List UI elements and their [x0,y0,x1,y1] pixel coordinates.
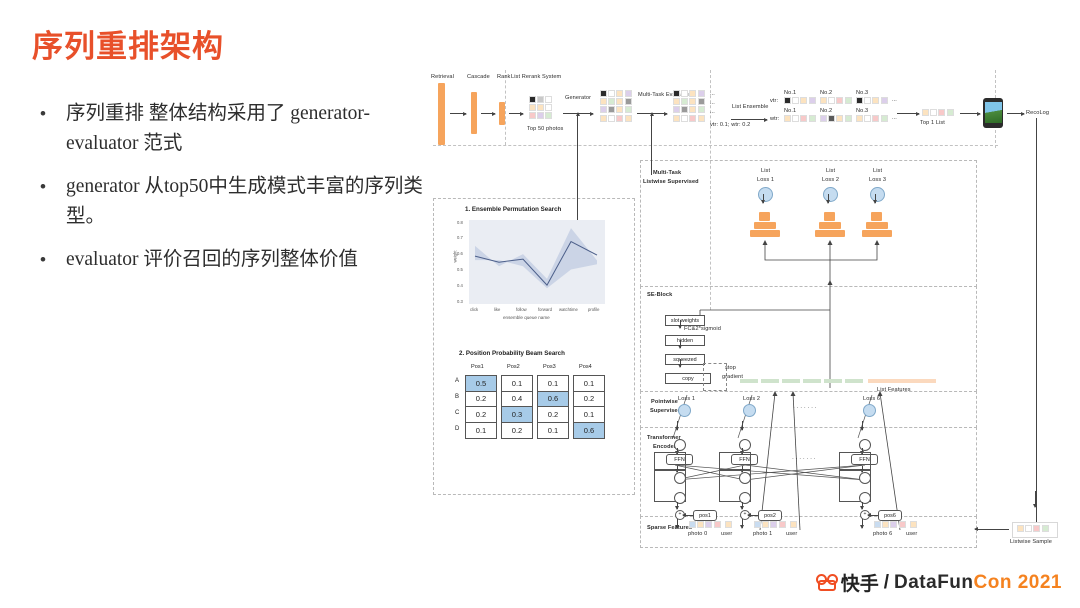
grid-cell [872,115,879,122]
table-cell: 0.1 [502,376,532,392]
point-loss-node-2 [743,404,756,417]
grid-cell [1017,525,1024,532]
ensemble-list [820,97,852,104]
grid-row [673,98,705,105]
grid-cell [681,90,688,97]
table-cell: 0.1 [574,407,604,423]
grid-cell [698,90,705,97]
grid-cell [947,109,954,116]
generator-label: Generator [565,95,591,101]
sparse-photo-label: photo 1 [753,531,772,537]
list-loss-label-line2: Loss 2 [822,177,839,183]
grid-cell [625,90,632,97]
grid-cell [689,106,696,113]
list-features-label: List Features [877,387,911,393]
grid-cell [689,98,696,105]
table-cell: 0.2 [502,423,532,439]
funnel-stage-cascade [471,92,477,134]
se-fc-label: FC&2*sigmoid [684,326,721,332]
evaluator-scored-lists [673,90,705,122]
ellipsis-marker: ... [892,115,897,121]
grid-cell [625,106,632,113]
grid-row [673,90,705,97]
mobile-device-icon [983,98,1003,128]
rank-label: No.3 [856,90,868,96]
position-probability-table-card: 2. Position Probability Beam Search Pos1… [447,350,622,485]
kuaishou-logo-icon [816,574,838,592]
arrow-into-listwise-sample [1035,491,1036,507]
point-loss-node-1 [678,404,691,417]
grid-cell [698,98,705,105]
chart-ytick: 0.7 [457,235,463,240]
grid-cell [856,115,863,122]
grid-cell [616,115,623,122]
listwise-sample-blocks [1017,525,1049,532]
rank-label: No.2 [820,108,832,114]
grid-cell [828,97,835,104]
chart-xtick: click [470,307,478,312]
table-cell: 0.2 [538,407,568,423]
grid-cell [608,106,615,113]
grid-cell [899,521,906,528]
feature-block-green [761,379,779,383]
list-loss-node [870,187,885,202]
ellipsis-marker: ... [710,100,715,106]
table-column-pos1: 0.5 0.2 0.2 0.1 [465,375,497,439]
addnorm-node [739,439,751,451]
feature-block-green [803,379,821,383]
grid-cell [600,106,607,113]
grid-cell [762,521,769,528]
transformer-title-line2: Encoder [653,444,676,450]
ensemble-list [820,115,852,122]
list-loss-label-line1: List [826,168,835,174]
point-loss-label-6: Loss 6 [863,396,880,402]
rank-label: No.3 [856,108,868,114]
grid-cell [792,97,799,104]
grid-cell [809,97,816,104]
grid-row [673,106,705,113]
pos-box-1: pos1 [693,510,717,521]
residual-wrap [719,452,751,470]
grid-cell [754,521,761,528]
point-loss-node-6 [863,404,876,417]
top50-photos-grid [529,96,552,119]
point-loss-ellipsis: · · · · · · · [793,405,817,411]
table-cell: 0.2 [466,407,496,423]
grid-cell [681,98,688,105]
grid-cell [828,115,835,122]
grid-cell [616,98,623,105]
sparse-user-label: user [721,531,732,537]
cone-layer-bottom [750,230,780,237]
ensemble-list [856,97,888,104]
grid-cell [689,90,696,97]
table-cell: 0.3 [502,407,532,423]
grid-cell [845,115,852,122]
chart-xtick: like [494,307,500,312]
bullet-marker: • [34,172,66,202]
chart-xtick: follow [516,307,527,312]
grid-cell [845,97,852,104]
grid-cell [872,97,879,104]
multitask-listwise-title-line2: Listwise Supervised [643,179,699,185]
generator-output-lists [600,90,632,122]
arrow-to-list-ensemble [731,119,767,120]
grid-cell [864,115,871,122]
column-header-pos4: Pos4 [579,364,592,370]
se-node-hidden: hidden [665,335,705,346]
grid-cell [529,104,536,111]
list-loss-label-line2: Loss 3 [869,177,886,183]
column-header-pos2: Pos2 [507,364,520,370]
architecture-diagram: Retrieval Cascade Rank List Rerank Syste… [425,60,1080,560]
arrow-embed-to-attention [742,502,743,509]
datafuncon-year-label: Con 2021 [974,572,1062,594]
page-title: 序列重排架构 [32,21,224,66]
list-item: • generator 从top50中生成模式丰富的序列类型。 [34,172,424,232]
grid-cell [625,98,632,105]
line-recolog-to-sample [1036,118,1037,523]
feature-block-green [782,379,800,383]
sparse-photo-label: photo 6 [873,531,892,537]
grid-cell [792,115,799,122]
chart-xtick: forward [538,307,552,312]
grid-cell [809,115,816,122]
bullet-marker: • [34,99,66,129]
grid-cell [938,109,945,116]
grid-cell [881,97,888,104]
divider-dashed-vertical [505,70,506,145]
arrow-pos-to-sum [748,515,758,516]
arrow-phone-to-recolog [1007,113,1024,114]
arrow-embed-to-attention [677,502,678,509]
grid-cell [856,97,863,104]
arrow-to-top1-list [897,113,919,114]
grid-cell [922,109,929,116]
chart-ytick: 0.5 [457,267,463,272]
arrow-to-phone [960,113,980,114]
grid-cell [800,115,807,122]
sparse-photo-blocks [754,521,786,528]
row-header-b: B [455,394,459,400]
list-loss-label-line1: List [873,168,882,174]
arrow-pos-to-sum [683,515,693,516]
grid-cell [705,521,712,528]
feature-block-green [740,379,758,383]
grid-cell [545,112,552,119]
table-column-pos3: 0.1 0.6 0.2 0.1 [537,375,569,439]
arrow-tower-to-loss [875,194,876,203]
bullet-text: evaluator 评价召回的序列整体价值 [66,245,358,275]
grid-cell [820,97,827,104]
list-loss-node [823,187,838,202]
chart-ytick: 0.6 [457,251,463,256]
ellipsis-marker: ... [710,109,715,115]
feature-block-orange [868,379,936,383]
ensemble-list [856,115,888,122]
arrow-sparse-to-sum [862,519,863,528]
table-cell: 0.1 [538,376,568,392]
table-cell: 0.1 [466,423,496,439]
arrow-squeezed-to-hidden [680,340,681,348]
grid-cell [529,112,536,119]
stop-gradient-line1: stop [725,365,736,371]
grid-cell [600,90,607,97]
grid-cell [608,115,615,122]
table-title: 2. Position Probability Beam Search [459,350,565,357]
arrow-to-pointwise-loss [742,421,743,430]
pointwise-title-line1: Pointwise [651,399,678,405]
grid-cell [836,97,843,104]
ensemble-list [784,97,816,104]
kuaishou-label: 快手 [841,569,879,596]
grid-cell [537,112,544,119]
attention-node [859,492,871,504]
chart-title: 1. Ensemble Permutation Search [465,206,561,213]
grid-cell [537,104,544,111]
grid-cell [881,115,888,122]
table-cell: 0.2 [466,392,496,408]
table-column-pos4: 0.1 0.2 0.1 0.6 [573,375,605,439]
residual-wrap [654,452,686,470]
grid-cell [616,106,623,113]
row-header-c: C [455,410,459,416]
list-ensemble-label: List Ensemble [732,104,768,110]
cone-layer-mid [866,222,888,229]
grid-cell [529,96,536,103]
grid-row [600,98,632,105]
sparse-photo-label: photo 0 [688,531,707,537]
ffn-ellipsis: · · · · · · · [792,456,816,462]
arrow-retrieval-to-cascade [450,113,466,114]
arrow-cascade-to-rank [481,113,495,114]
addnorm-node [859,439,871,451]
chart-ytick: 0.8 [457,220,463,225]
list-loss-node [758,187,773,202]
sparse-user-block [910,521,917,528]
grid-cell [673,106,680,113]
grid-cell [681,115,688,122]
cone-layer-bottom [815,230,845,237]
grid-cell [689,115,696,122]
transformer-region [640,427,977,517]
attention-node [739,492,751,504]
grid-cell [779,521,786,528]
phone-screen [985,102,1002,123]
se-node-squeezed: squeezed [665,354,705,365]
se-block-title: SE-Block [647,292,672,298]
cone-layer-mid [819,222,841,229]
arrow-to-pointwise-loss [677,421,678,430]
arrow-hidden-to-slotweights [680,320,681,328]
datafun-label: DataFun [894,572,974,594]
bullet-text: 序列重排 整体结构采用了 generator-evaluator 范式 [66,99,424,159]
column-header-pos1: Pos1 [471,364,484,370]
grid-cell [616,90,623,97]
list-loss-label-line2: Loss 1 [757,177,774,183]
arrow-pos-to-sum [868,515,878,516]
ensemble-list [784,115,816,122]
sparse-features-title: Sparse Features [647,525,692,531]
list-rerank-system-label: List Rerank System [511,74,561,80]
sparse-user-label: user [906,531,917,537]
bullet-marker: • [34,245,66,275]
sparse-user-label: user [786,531,797,537]
funnel-label-cascade: Cascade [467,74,490,80]
sparse-user-block [790,521,797,528]
bullet-text: generator 从top50中生成模式丰富的序列类型。 [66,172,424,232]
table-cell: 0.6 [574,423,604,439]
cone-layer-top [759,212,770,221]
grid-cell [784,115,791,122]
grid-cell [681,106,688,113]
grid-cell [714,521,721,528]
top50-photos-label: Top 50 photos [527,126,563,132]
row-header-d: D [455,426,459,432]
grid-cell [800,97,807,104]
arrow-copy-to-squeezed [680,359,681,367]
cone-layer-top [871,212,882,221]
grid-cell [784,97,791,104]
rank-label: No.1 [784,108,796,114]
top1-list-blocks [922,109,954,116]
chart-xtick: watchtime [559,307,578,312]
row-header-a: A [455,378,459,384]
table-cell: 0.2 [574,392,604,408]
grid-cell [890,521,897,528]
cone-layer-bottom [862,230,892,237]
grid-cell [673,98,680,105]
grid-cell [698,106,705,113]
grid-row [529,96,552,103]
grid-row [600,115,632,122]
pos-box-2: pos2 [758,510,782,521]
grid-cell [689,521,696,528]
metric-label-wtr: wtr: [770,116,779,122]
funnel-stage-rank [499,102,505,125]
arrow-sample-to-sparse [975,529,1009,530]
funnel-label-retrieval: Retrieval [431,74,454,80]
pointwise-title-line2: Supervised [650,408,681,414]
chart-svg [469,220,605,304]
table-cell: 0.5 [466,376,496,392]
grid-row [600,106,632,113]
list-loss-label-line1: List [761,168,770,174]
table-column-pos2: 0.1 0.4 0.3 0.2 [501,375,533,439]
grid-cell [882,521,889,528]
arrow-embed-to-attention [862,502,863,509]
grid-cell [820,115,827,122]
grid-row [529,112,552,119]
feature-block-green [824,379,842,383]
grid-cell [625,115,632,122]
footer-branding: 快手 / DataFun Con 2021 [816,569,1062,596]
logo-face [818,580,836,591]
cone-layer-mid [754,222,776,229]
grid-cell [1042,525,1049,532]
arrow-rank-to-system [509,113,523,114]
column-header-pos3: Pos3 [543,364,556,370]
grid-cell [930,109,937,116]
rank-label: No.1 [784,90,796,96]
grid-cell [698,115,705,122]
chart-xlabel: ensemble queue name [503,315,550,320]
grid-row [600,90,632,97]
sparse-photo-blocks [874,521,906,528]
grid-cell [874,521,881,528]
attention-node [674,492,686,504]
grid-cell [1033,525,1040,532]
chart-confidence-band [475,228,597,288]
pos-box-6: pos6 [878,510,902,521]
table-cell: 0.6 [538,392,568,408]
arrow-tower-to-loss [828,194,829,203]
rank-label: No.2 [820,90,832,96]
grid-row [673,115,705,122]
sparse-photo-blocks [689,521,721,528]
chart-plot-area [469,220,605,304]
multitask-listwise-title-line1: Multi-Task [653,170,681,176]
grid-cell [600,98,607,105]
grid-cell [673,115,680,122]
bullet-list: • 序列重排 整体结构采用了 generator-evaluator 范式 • … [34,99,424,288]
grid-cell [673,90,680,97]
residual-wrap [839,452,871,470]
grid-cell [545,104,552,111]
arrow-evaluator-supervision [651,113,652,175]
point-loss-label-2: Loss 2 [743,396,760,402]
point-loss-label-1: Loss 1 [678,396,695,402]
grid-cell [836,115,843,122]
arrow-sparse-to-sum [742,519,743,528]
grid-cell [608,98,615,105]
funnel-label-rank: Rank [497,74,510,80]
se-node-slot-weights: slot weights [665,315,705,326]
list-item: • 序列重排 整体结构采用了 generator-evaluator 范式 [34,99,424,159]
grid-cell [864,97,871,104]
metric-label-vtr: vtr: [770,98,778,104]
list-item: • evaluator 评价召回的序列整体价值 [34,245,424,275]
table-cell: 0.4 [502,392,532,408]
addnorm-node [674,439,686,451]
divider-dashed-horizontal [433,145,998,146]
separator-slash: / [884,572,889,594]
grid-cell [770,521,777,528]
evaluator-score-label: vtr: 0.1; wtr: 0.2 [710,122,750,128]
chart-ytick: 0.4 [457,283,463,288]
table-cell: 0.1 [574,376,604,392]
arrow-to-pointwise-loss [862,421,863,430]
grid-cell [600,115,607,122]
arrow-tower-to-loss [763,194,764,203]
recolog-label: RecoLog [1026,110,1049,116]
sparse-user-block [725,521,732,528]
ellipsis-marker: ... [892,97,897,103]
chart-ytick: 0.3 [457,299,463,304]
grid-cell [545,96,552,103]
grid-cell [537,96,544,103]
grid-row [529,104,552,111]
ensemble-permutation-chart-card: 1. Ensemble Permutation Search weight 0.… [447,206,622,336]
table-cell: 0.1 [538,423,568,439]
funnel-stage-retrieval [438,83,445,145]
grid-cell [608,90,615,97]
grid-cell [697,521,704,528]
feature-block-green [845,379,863,383]
chart-xtick: profile [588,307,599,312]
top1-list-label: Top 1 List [920,120,945,126]
